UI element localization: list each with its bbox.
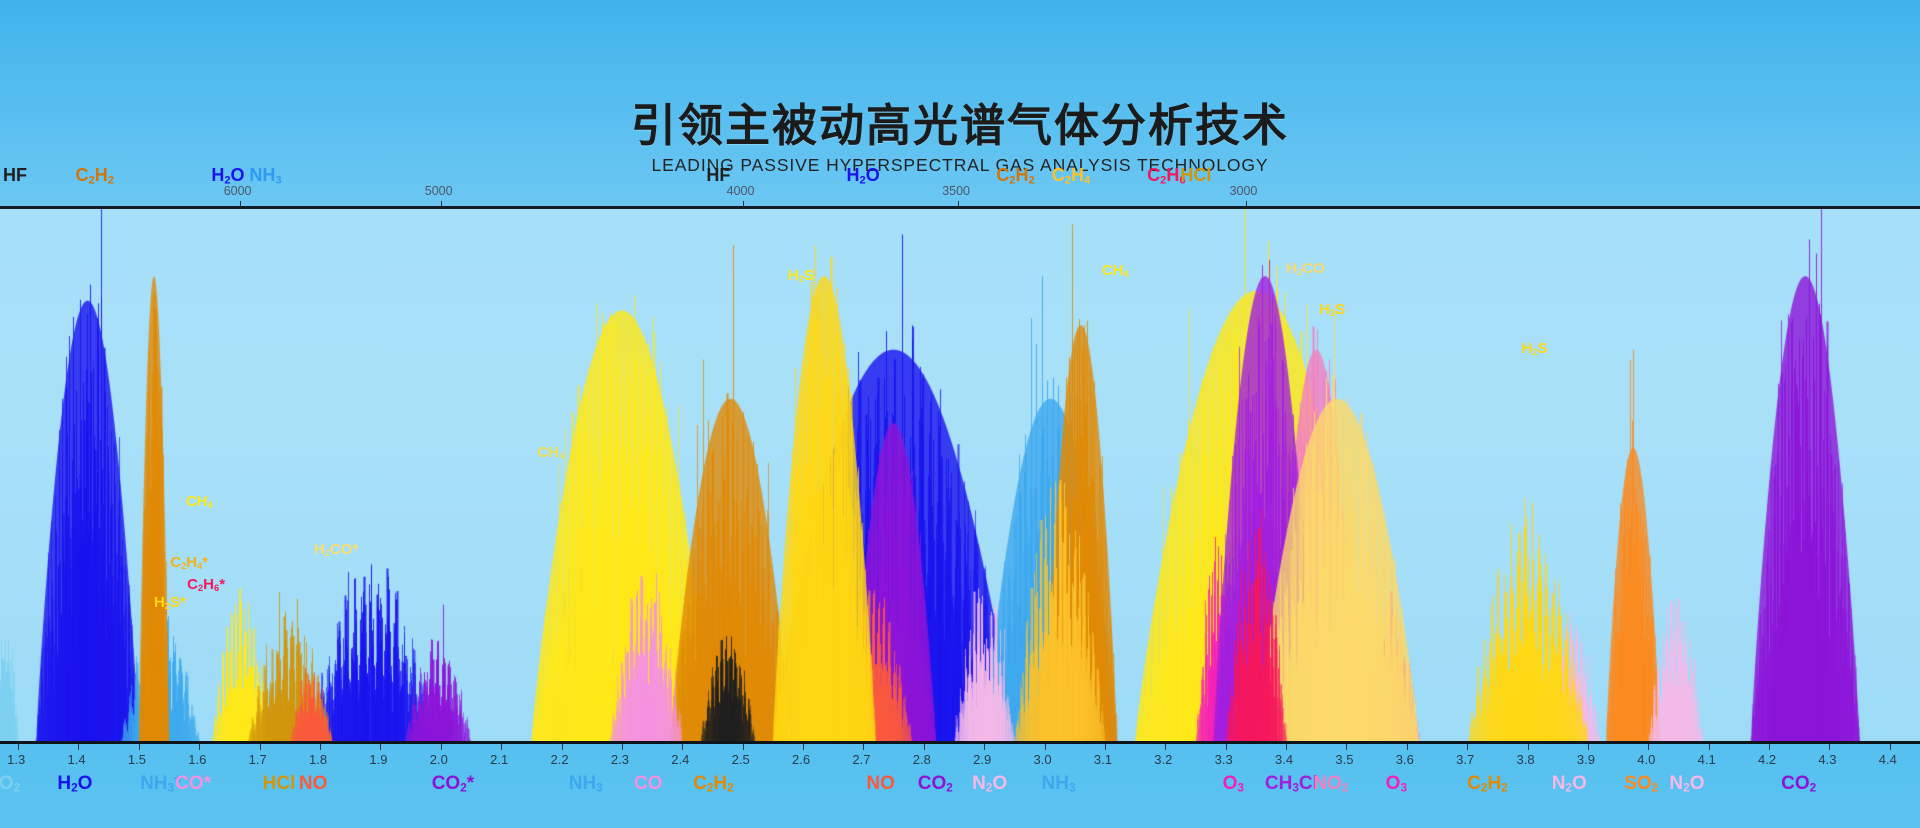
gas-label-h2s: H2S xyxy=(788,268,814,284)
page-subtitle: LEADING PASSIVE HYPERSPECTRAL GAS ANALYS… xyxy=(0,155,1920,176)
x-tick-mark xyxy=(1045,744,1046,750)
wavenumber-tick-label: 3500 xyxy=(942,184,970,198)
x-tick-label: 3.7 xyxy=(1456,752,1474,767)
x-tick-label: 2.4 xyxy=(671,752,689,767)
wavenumber-tick-mark xyxy=(441,201,442,206)
x-tick-mark xyxy=(1528,744,1529,750)
gas-label-no: NO xyxy=(866,774,895,793)
x-tick-label: 1.4 xyxy=(67,752,85,767)
x-tick-mark xyxy=(139,744,140,750)
x-tick-label: 4.4 xyxy=(1879,752,1897,767)
x-tick-mark xyxy=(1286,744,1287,750)
x-tick-label: 1.6 xyxy=(188,752,206,767)
x-tick-mark xyxy=(924,744,925,750)
gas-label-h2co: H2CO* xyxy=(314,542,358,558)
gas-label-n2o: N2O xyxy=(1669,774,1704,794)
x-tick-mark xyxy=(743,744,744,750)
x-tick-mark xyxy=(1105,744,1106,750)
wavenumber-tick-label: 3000 xyxy=(1230,184,1258,198)
x-tick-mark xyxy=(1890,744,1891,750)
gas-label-c2h6: C2H6* xyxy=(187,577,225,593)
x-tick-mark xyxy=(1829,744,1830,750)
x-tick-mark xyxy=(984,744,985,750)
gas-label-nh3: NH3 xyxy=(569,774,603,794)
top-axis-line xyxy=(0,206,1920,209)
gas-label-hcl: HCl xyxy=(263,774,296,793)
bottom-axis-line xyxy=(0,741,1920,744)
gas-label-no: NO xyxy=(299,774,328,793)
gas-label-hf: HF xyxy=(706,166,730,184)
x-tick-mark xyxy=(1588,744,1589,750)
gas-label-c2h2: C2H2 xyxy=(693,774,734,794)
x-tick-label: 4.0 xyxy=(1637,752,1655,767)
x-tick-mark xyxy=(1346,744,1347,750)
x-tick-mark xyxy=(1709,744,1710,750)
gas-label-co2: CO2 xyxy=(918,774,953,794)
gas-label-h2o: H2O xyxy=(846,166,879,187)
x-tick-mark xyxy=(863,744,864,750)
x-tick-label: 3.5 xyxy=(1335,752,1353,767)
wavenumber-tick-label: 4000 xyxy=(727,184,755,198)
poster-root: 引领主被动高光谱气体分析技术 LEADING PASSIVE HYPERSPEC… xyxy=(0,0,1920,828)
gas-label-h2co: H2CO xyxy=(1286,261,1325,277)
x-tick-label: 2.2 xyxy=(551,752,569,767)
x-tick-label: 1.3 xyxy=(7,752,25,767)
gas-label-c2h2: C2H2 xyxy=(996,166,1034,187)
gas-label-ch3cl: CH3Cl xyxy=(1265,774,1318,794)
x-tick-mark xyxy=(380,744,381,750)
x-tick-mark xyxy=(320,744,321,750)
gas-label-c2h2: C2H2 xyxy=(1467,774,1508,794)
gas-label-n2o: N2O xyxy=(1552,774,1587,794)
gas-label-co: CO xyxy=(634,774,663,793)
x-tick-label: 4.2 xyxy=(1758,752,1776,767)
x-tick-label: 3.1 xyxy=(1094,752,1112,767)
gas-label-co: CO* xyxy=(175,774,211,793)
x-tick-mark xyxy=(1648,744,1649,750)
x-tick-mark xyxy=(562,744,563,750)
gas-label-ch4: CH4 xyxy=(537,445,564,461)
wavenumber-tick-mark xyxy=(958,201,959,206)
gas-label-co2: CO2 xyxy=(1781,774,1816,794)
x-tick-mark xyxy=(18,744,19,750)
gas-label-nh3: NH3 xyxy=(1042,774,1076,794)
x-tick-label: 2.8 xyxy=(913,752,931,767)
x-tick-mark xyxy=(1407,744,1408,750)
x-tick-mark xyxy=(622,744,623,750)
gas-label-o3: O3 xyxy=(1223,774,1244,794)
gas-label-ch4: CH4 xyxy=(186,494,213,510)
gas-label-n2o: N2O xyxy=(972,774,1007,794)
x-tick-mark xyxy=(1226,744,1227,750)
x-tick-label: 3.9 xyxy=(1577,752,1595,767)
x-tick-label: 1.9 xyxy=(369,752,387,767)
page-title: 引领主被动高光谱气体分析技术 xyxy=(0,89,1920,154)
x-tick-label: 2.1 xyxy=(490,752,508,767)
x-tick-label: 3.2 xyxy=(1154,752,1172,767)
x-tick-label: 3.6 xyxy=(1396,752,1414,767)
x-tick-mark xyxy=(682,744,683,750)
x-tick-label: 2.6 xyxy=(792,752,810,767)
x-tick-mark xyxy=(803,744,804,750)
x-tick-label: 1.7 xyxy=(249,752,267,767)
x-tick-mark xyxy=(78,744,79,750)
gas-label-o3: O3 xyxy=(1386,774,1407,794)
x-tick-mark xyxy=(441,744,442,750)
gas-label-c2h2: C2H2 xyxy=(75,166,113,187)
x-tick-mark xyxy=(260,744,261,750)
x-tick-label: 1.8 xyxy=(309,752,327,767)
wavenumber-tick-label: 6000 xyxy=(224,184,252,198)
gas-label-co2: CO2* xyxy=(432,774,474,794)
x-tick-label: 2.3 xyxy=(611,752,629,767)
wavenumber-tick-mark xyxy=(1246,201,1247,206)
gas-label-h2s: H2S xyxy=(1319,302,1345,318)
wavenumber-tick-label: 5000 xyxy=(425,184,453,198)
x-tick-mark xyxy=(1165,744,1166,750)
gas-label-o2: O2 xyxy=(0,774,20,794)
x-tick-mark xyxy=(199,744,200,750)
x-tick-mark xyxy=(501,744,502,750)
gas-label-h2s: H2S xyxy=(1522,341,1548,357)
x-tick-label: 3.8 xyxy=(1517,752,1535,767)
gas-label-nh3: NH3 xyxy=(249,166,281,187)
gas-label-ch4: CH4 xyxy=(1102,263,1129,279)
gas-label-so2: SO2 xyxy=(1624,774,1658,794)
gas-label-h2o: H2O xyxy=(57,774,92,794)
gas-label-no2: NO2 xyxy=(1313,774,1348,794)
gas-label-h2s: H2S* xyxy=(154,595,186,611)
x-tick-label: 4.1 xyxy=(1698,752,1716,767)
wavenumber-tick-mark xyxy=(240,201,241,206)
gas-label-hf: HF xyxy=(3,166,27,184)
x-tick-label: 1.5 xyxy=(128,752,146,767)
gas-label-hcl: HCl xyxy=(1180,166,1211,184)
gas-label-c2h4: C2H4 xyxy=(1052,166,1090,187)
x-tick-label: 2.9 xyxy=(973,752,991,767)
x-tick-label: 3.3 xyxy=(1215,752,1233,767)
spectrum-canvas xyxy=(0,209,1920,742)
gas-label-c2h4: C2H4* xyxy=(170,555,208,571)
x-tick-label: 2.5 xyxy=(732,752,750,767)
x-tick-mark xyxy=(1467,744,1468,750)
wavenumber-tick-mark xyxy=(743,201,744,206)
x-tick-label: 2.7 xyxy=(852,752,870,767)
x-tick-label: 2.0 xyxy=(430,752,448,767)
x-tick-label: 3.0 xyxy=(1034,752,1052,767)
x-tick-label: 3.4 xyxy=(1275,752,1293,767)
x-tick-mark xyxy=(1769,744,1770,750)
x-tick-label: 4.3 xyxy=(1818,752,1836,767)
